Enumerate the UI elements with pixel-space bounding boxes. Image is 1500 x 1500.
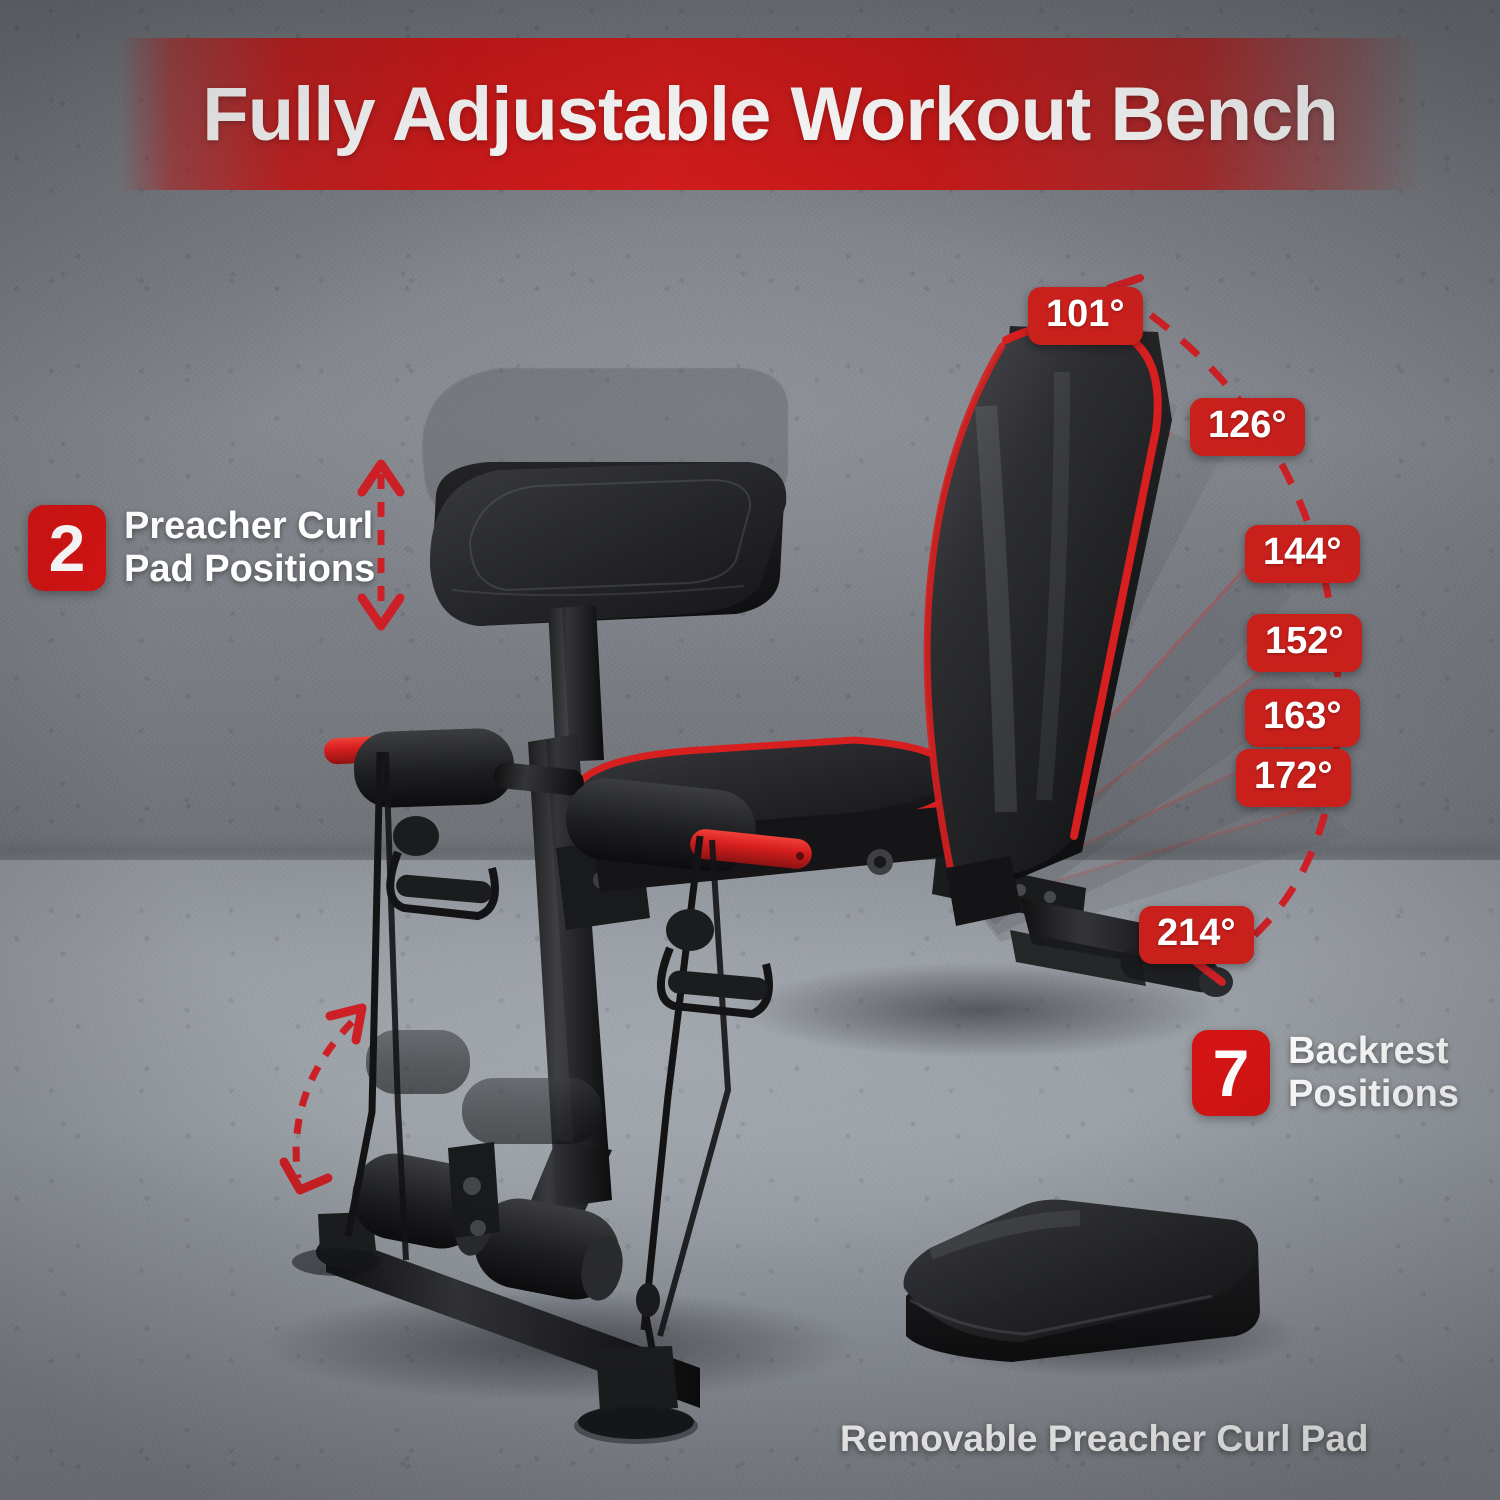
callout-preacher-curl-pad: 2 Preacher Curl Pad Positions (28, 505, 375, 592)
caption-removable-pad: Removable Preacher Curl Pad (840, 1418, 1369, 1460)
angle-chip-152: 152° (1247, 614, 1362, 672)
angle-chip-144: 144° (1245, 525, 1360, 583)
angle-chip-172: 172° (1236, 749, 1351, 807)
infographic-canvas: Fully Adjustable Workout Bench 2 Preache… (0, 0, 1500, 1500)
angle-chip-126: 126° (1190, 398, 1305, 456)
angle-chip-214: 214° (1139, 906, 1254, 964)
callout-number-badge: 2 (28, 505, 106, 591)
callout-label: Backrest Positions (1288, 1030, 1459, 1117)
callout-backrest-positions: 7 Backrest Positions (1192, 1030, 1459, 1117)
callout-number-badge: 7 (1192, 1030, 1270, 1116)
leg-roller-adjust-arrow (284, 1008, 362, 1190)
page-title: Fully Adjustable Workout Bench (120, 38, 1420, 190)
angle-chip-101: 101° (1028, 287, 1143, 345)
callout-label: Preacher Curl Pad Positions (124, 505, 375, 592)
angle-chip-163: 163° (1245, 689, 1360, 747)
